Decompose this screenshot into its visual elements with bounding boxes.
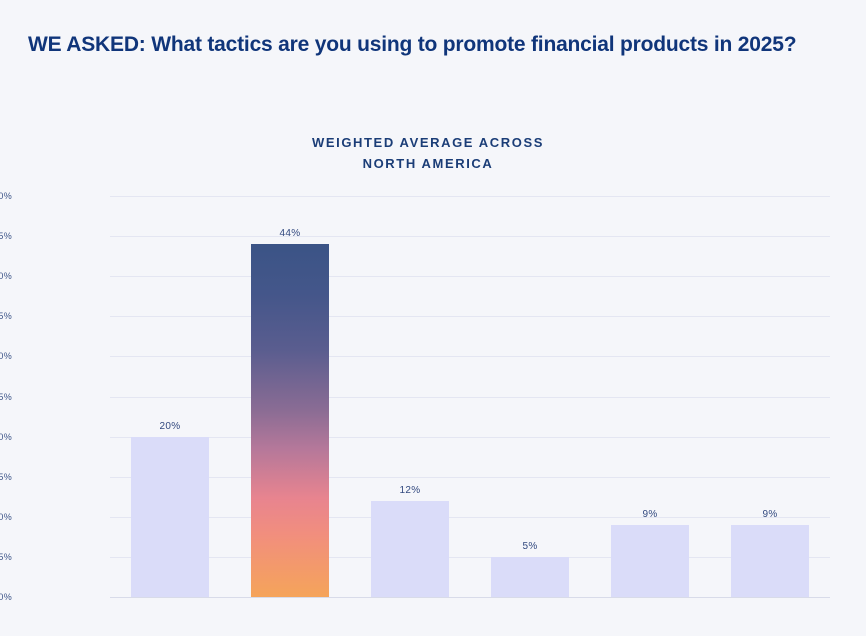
y-axis-tick-label: 30%	[0, 351, 12, 361]
y-axis-tick-label: 45%	[0, 231, 12, 241]
y-axis-tick-label: 40%	[0, 271, 12, 281]
page-title: WE ASKED: What tactics are you using to …	[28, 30, 828, 60]
gridline	[110, 597, 830, 598]
gridline	[110, 316, 830, 317]
bar-1[interactable]	[131, 437, 209, 597]
gridline	[110, 196, 830, 197]
bar-value-label: 9%	[731, 509, 809, 520]
chart-subtitle-line-1: WEIGHTED AVERAGE ACROSS	[0, 132, 856, 153]
bar-2[interactable]	[251, 244, 329, 597]
gridline	[110, 477, 830, 478]
y-axis-tick-label: 25%	[0, 392, 12, 402]
gridline	[110, 437, 830, 438]
bar-value-label: 44%	[251, 228, 329, 239]
headline-rest: What tactics are you using to promote fi…	[146, 33, 797, 56]
headline-lead: WE ASKED:	[28, 33, 146, 56]
chart-page: WE ASKED: What tactics are you using to …	[0, 0, 866, 636]
chart-subtitle-line-2: NORTH AMERICA	[0, 153, 856, 174]
gridline	[110, 236, 830, 237]
bar-value-label: 5%	[491, 541, 569, 552]
bar-6[interactable]	[731, 525, 809, 597]
bar-4[interactable]	[491, 557, 569, 597]
gridline	[110, 356, 830, 357]
bar-5[interactable]	[611, 525, 689, 597]
y-axis-tick-label: 0%	[0, 592, 12, 602]
gridline	[110, 397, 830, 398]
y-axis-tick-label: 50%	[0, 191, 12, 201]
gridline	[110, 276, 830, 277]
y-axis-tick-label: 20%	[0, 432, 12, 442]
bar-value-label: 9%	[611, 509, 689, 520]
chart-subtitle: WEIGHTED AVERAGE ACROSS NORTH AMERICA	[0, 132, 856, 174]
bar-value-label: 20%	[131, 421, 209, 432]
bar-value-label: 12%	[371, 485, 449, 496]
bar-3[interactable]	[371, 501, 449, 597]
gridline	[110, 557, 830, 558]
plot-area: 0%5%10%15%20%25%30%35%40%45%50%20%Longfo…	[110, 196, 830, 597]
y-axis-tick-label: 5%	[0, 552, 12, 562]
y-axis-tick-label: 10%	[0, 512, 12, 522]
y-axis-tick-label: 15%	[0, 472, 12, 482]
gridline	[110, 517, 830, 518]
y-axis-tick-label: 35%	[0, 311, 12, 321]
